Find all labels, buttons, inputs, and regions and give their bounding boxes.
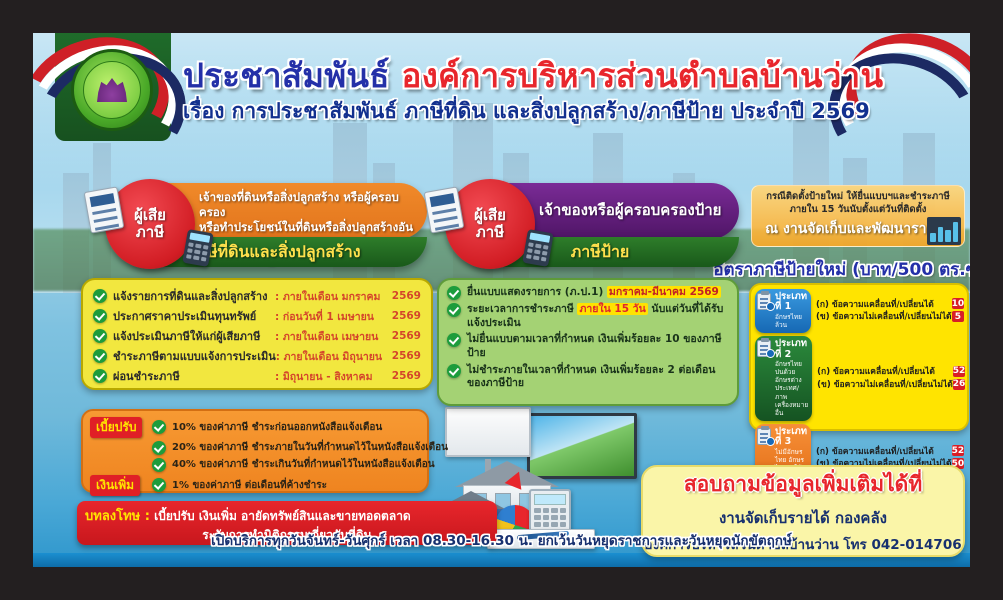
document-icon xyxy=(424,186,465,233)
list-item: ไม่ชำระภายในเวลาที่กำหนด เงินเพิ่มร้อยละ… xyxy=(447,364,729,391)
list-item: ยื่นแบบแสดงรายการ (ภ.ป.1) มกราคม-มีนาคม … xyxy=(447,286,729,300)
taxpayer-badge-land: ผู้เสีย ภาษี xyxy=(105,179,195,269)
penalty-surcharge-tag: เงินเพิ่ม xyxy=(90,475,140,496)
check-icon xyxy=(152,420,166,434)
check-icon xyxy=(447,303,461,317)
taxpayer-badge-sign: ผู้เสีย ภาษี xyxy=(445,179,535,269)
schedule-label: ผ่อนชำระภาษี xyxy=(113,367,275,385)
punishment-line1: บทลงโทษ : เบี้ยปรับ เงินเพิ่ม อายัดทรัพย… xyxy=(85,505,489,526)
schedule-when: : ภายในเดือน เมษายน xyxy=(275,328,391,345)
new-sign-notice-line1: กรณีติดตั้งป้ายใหม่ ให้ยื่นแบบฯและชำระภา… xyxy=(758,191,958,204)
page-title-part2: องค์การบริหารส่วนตำบลบ้านว่าน xyxy=(401,56,883,95)
schedule-when: : ภายในเดือน มกราคม xyxy=(275,288,391,305)
new-sign-notice: กรณีติดตั้งป้ายใหม่ ให้ยื่นแบบฯและชำระภา… xyxy=(751,185,965,247)
organization-seal-icon xyxy=(71,49,153,131)
schedule-label: แจ้งประเมินภาษีให้แก่ผู้เสียภาษี xyxy=(113,327,275,345)
punishment-text: เบี้ยปรับ เงินเพิ่ม อายัดทรัพย์สินและขาย… xyxy=(150,509,411,523)
penalty-item: 20% ของค่าภาษี ชำระภายในวันที่กำหนดไว้ใน… xyxy=(172,440,448,455)
poster-root: ประชาสัมพันธ์ องค์การบริหารส่วนตำบลบ้านว… xyxy=(33,33,970,567)
penalty-item: 40% ของค่าภาษี ชำระเกินวันที่กำหนดไว้ในห… xyxy=(172,457,435,472)
check-icon xyxy=(447,333,461,347)
sign-rate-item: (ก) ข้อความแคลื่อนที่/เปลี่ยนได้ xyxy=(817,366,953,378)
rate-header: อัตราภาษีป้ายใหม่ (บาท/500 ตร.ซม.) xyxy=(745,255,970,283)
sign-rate-value: 52 xyxy=(952,445,965,456)
contact-office: งานจัดเก็บรายได้ กองคลัง xyxy=(719,506,887,530)
check-icon xyxy=(93,349,107,363)
list-item: 40% ของค่าภาษี ชำระเกินวันที่กำหนดไว้ในห… xyxy=(90,457,420,472)
schedule-year: 2569 xyxy=(391,310,421,322)
sign-rate-items: (ก) ข้อความแคลื่อนที่/เปลี่ยนได้ (ข) ข้อ… xyxy=(811,299,952,324)
check-icon xyxy=(152,441,166,455)
check-icon xyxy=(447,286,461,300)
sign-rate-table: ประเภทที่ 1 อักษรไทยล้วน (ก) ข้อความแคลื… xyxy=(749,283,969,431)
penalty-surcharge-item: 1% ของค่าภาษี ต่อเดือนที่ค้างชำระ xyxy=(172,478,327,493)
clipboard-icon xyxy=(757,428,771,445)
page-title: ประชาสัมพันธ์ องค์การบริหารส่วนตำบลบ้านว… xyxy=(183,49,883,93)
sign-type-chip: ประเภทที่ 1 อักษรไทยล้วน xyxy=(755,289,811,333)
category-sign-text: ภาษีป้าย xyxy=(571,240,630,265)
header: ประชาสัมพันธ์ องค์การบริหารส่วนตำบลบ้านว… xyxy=(33,33,970,145)
sign-rule-text: ไม่ยื่นแบบตามเวลาที่กำหนด เงินเพิ่มร้อยล… xyxy=(467,333,729,360)
bar-chart-icon xyxy=(927,217,961,245)
sign-type-chip: ประเภทที่ 2 อักษรไทยปนด้วย อักษรต่างประเ… xyxy=(755,336,812,421)
clipboard-icon xyxy=(757,293,771,310)
schedule-label: แจ้งรายการที่ดินและสิ่งปลูกสร้าง xyxy=(113,287,275,305)
table-row: ผ่อนชำระภาษี : มิถุนายน - สิงหาคม 2569 xyxy=(93,367,421,385)
footer: เปิดบริการทุกวันจันทร์-วันศุกร์ เวลา 08.… xyxy=(33,529,970,551)
schedule-label: ชำระภาษีตามแบบแจ้งการประเมิน xyxy=(113,347,276,365)
sign-rate-value: 10 xyxy=(952,298,965,309)
sign-type-label: ประเภทที่ 1 xyxy=(775,292,807,313)
schedule-year: 2569 xyxy=(391,350,421,362)
taxpayer-badge-sign-l1: ผู้เสีย xyxy=(474,207,506,224)
sign-rules-panel: ยื่นแบบแสดงรายการ (ภ.ป.1) มกราคม-มีนาคม … xyxy=(437,278,739,406)
check-icon xyxy=(93,289,107,303)
contact-heading: สอบถามข้อมูลเพิ่มเติมได้ที่ xyxy=(684,468,922,501)
check-icon xyxy=(152,458,166,472)
taxpayer-badge-sign-l2: ภาษี xyxy=(476,224,504,241)
schedule-year: 2569 xyxy=(391,330,421,342)
table-row: ชำระภาษีตามแบบแจ้งการประเมิน : ภายในเดือ… xyxy=(93,347,421,365)
sign-rate-items: (ก) ข้อความแคลื่อนที่/เปลี่ยนได้ (ข) ข้อ… xyxy=(812,366,953,391)
check-icon xyxy=(152,478,166,492)
check-icon xyxy=(93,369,107,383)
category-land-text: ภาษีที่ดินและสิ่งปลูกสร้าง xyxy=(187,240,360,265)
page-subtitle: เรื่อง การประชาสัมพันธ์ ภาษีที่ดิน และสิ… xyxy=(183,95,923,125)
sign-rate-item: (ก) ข้อความแคลื่อนที่/เปลี่ยนได้ xyxy=(816,446,952,458)
list-item: เงินเพิ่ม 1% ของค่าภาษี ต่อเดือนที่ค้างช… xyxy=(90,474,420,496)
taxpayer-badge-land-l1: ผู้เสีย xyxy=(134,207,166,224)
sign-rule-text: ไม่ชำระภายในเวลาที่กำหนด เงินเพิ่มร้อยละ… xyxy=(467,364,729,391)
sign-rate-values: 52 26 xyxy=(953,366,966,392)
check-icon xyxy=(93,329,107,343)
sign-rule-text: ระยะเวลาการชำระภาษี ภายใน 15 วัน นับแต่ว… xyxy=(467,303,729,330)
schedule-label: ประกาศราคาประเมินทุนทรัพย์ xyxy=(113,307,275,325)
check-icon xyxy=(447,364,461,378)
list-item: ระยะเวลาการชำระภาษี ภายใน 15 วัน นับแต่ว… xyxy=(447,303,729,330)
billboard-blank-icon xyxy=(445,407,531,457)
sign-rate-item: (ข) ข้อความไม่เคลื่อนที่/เปลี่ยนไม่ได้ xyxy=(817,379,953,391)
taxpayer-land-desc-1: เจ้าของที่ดินหรือสิ่งปลูกสร้าง หรือผู้คร… xyxy=(199,190,413,220)
table-row: แจ้งรายการที่ดินและสิ่งปลูกสร้าง : ภายใน… xyxy=(93,287,421,305)
table-row: ประเภทที่ 1 อักษรไทยล้วน (ก) ข้อความแคลื… xyxy=(755,289,963,333)
list-item: ไม่ยื่นแบบตามเวลาที่กำหนด เงินเพิ่มร้อยล… xyxy=(447,333,729,360)
page-title-part1: ประชาสัมพันธ์ xyxy=(183,56,401,95)
document-icon xyxy=(84,186,125,233)
schedule-when: : ภายในเดือน มิถุนายน xyxy=(276,348,391,365)
sign-type-label: ประเภทที่ 2 xyxy=(775,339,808,360)
sign-rate-item: (ข) ข้อความไม่เคลื่อนที่/เปลี่ยนไม่ได้ xyxy=(816,311,952,323)
clipboard-icon xyxy=(757,340,771,357)
new-sign-notice-line2: ภายใน 15 วันนับตั้งแต่วันที่ติดตั้ง xyxy=(758,204,958,217)
punishment-tag: บทลงโทษ : xyxy=(85,509,150,524)
check-icon xyxy=(93,309,107,323)
table-row: ประเภทที่ 2 อักษรไทยปนด้วย อักษรต่างประเ… xyxy=(755,336,963,421)
sign-rate-value: 5 xyxy=(952,311,965,322)
schedule-year: 2569 xyxy=(391,370,421,382)
sign-type-label: ประเภทที่ 3 xyxy=(775,427,807,448)
sign-rate-item: (ก) ข้อความแคลื่อนที่/เปลี่ยนได้ xyxy=(816,299,952,311)
sign-rate-values: 10 5 xyxy=(952,298,965,324)
schedule-year: 2569 xyxy=(391,290,421,302)
penalty-panel: เบี้ยปรับ 10% ของค่าภาษี ชำระก่อนออกหนัง… xyxy=(81,409,429,493)
schedule-when: : มิถุนายน - สิงหาคม xyxy=(275,368,391,385)
rate-header-text: อัตราภาษีป้ายใหม่ (บาท/500 ตร.ซม.) xyxy=(713,256,970,283)
land-schedule-panel: แจ้งรายการที่ดินและสิ่งปลูกสร้าง : ภายใน… xyxy=(81,278,433,390)
penalty-fine-tag: เบี้ยปรับ xyxy=(90,417,142,438)
sign-rate-value: 26 xyxy=(953,379,966,390)
sign-rate-value: 52 xyxy=(953,366,966,377)
penalty-item: 10% ของค่าภาษี ชำระก่อนออกหนังสือแจ้งเตื… xyxy=(172,420,382,435)
schedule-when: : ก่อนวันที่ 1 เมษายน xyxy=(275,308,391,325)
list-item: เบี้ยปรับ 10% ของค่าภาษี ชำระก่อนออกหนัง… xyxy=(90,416,420,438)
table-row: ประกาศราคาประเมินทุนทรัพย์ : ก่อนวันที่ … xyxy=(93,307,421,325)
sign-rule-text: ยื่นแบบแสดงรายการ (ภ.ป.1) มกราคม-มีนาคม … xyxy=(467,286,721,300)
table-row: แจ้งประเมินภาษีให้แก่ผู้เสียภาษี : ภายใน… xyxy=(93,327,421,345)
list-item: 20% ของค่าภาษี ชำระภายในวันที่กำหนดไว้ใน… xyxy=(90,440,420,455)
sign-type-sub: อักษรไทยล้วน xyxy=(775,313,807,329)
sign-type-sub: อักษรไทยปนด้วย อักษรต่างประเทศ/ภาพ เครื่… xyxy=(775,360,808,417)
footer-hours: เปิดบริการทุกวันจันทร์-วันศุกร์ เวลา 08.… xyxy=(211,533,792,549)
taxpayer-badge-land-l2: ภาษี xyxy=(136,224,164,241)
taxpayer-sign-desc-1: เจ้าของหรือผู้ครอบครองป้าย xyxy=(539,201,721,221)
